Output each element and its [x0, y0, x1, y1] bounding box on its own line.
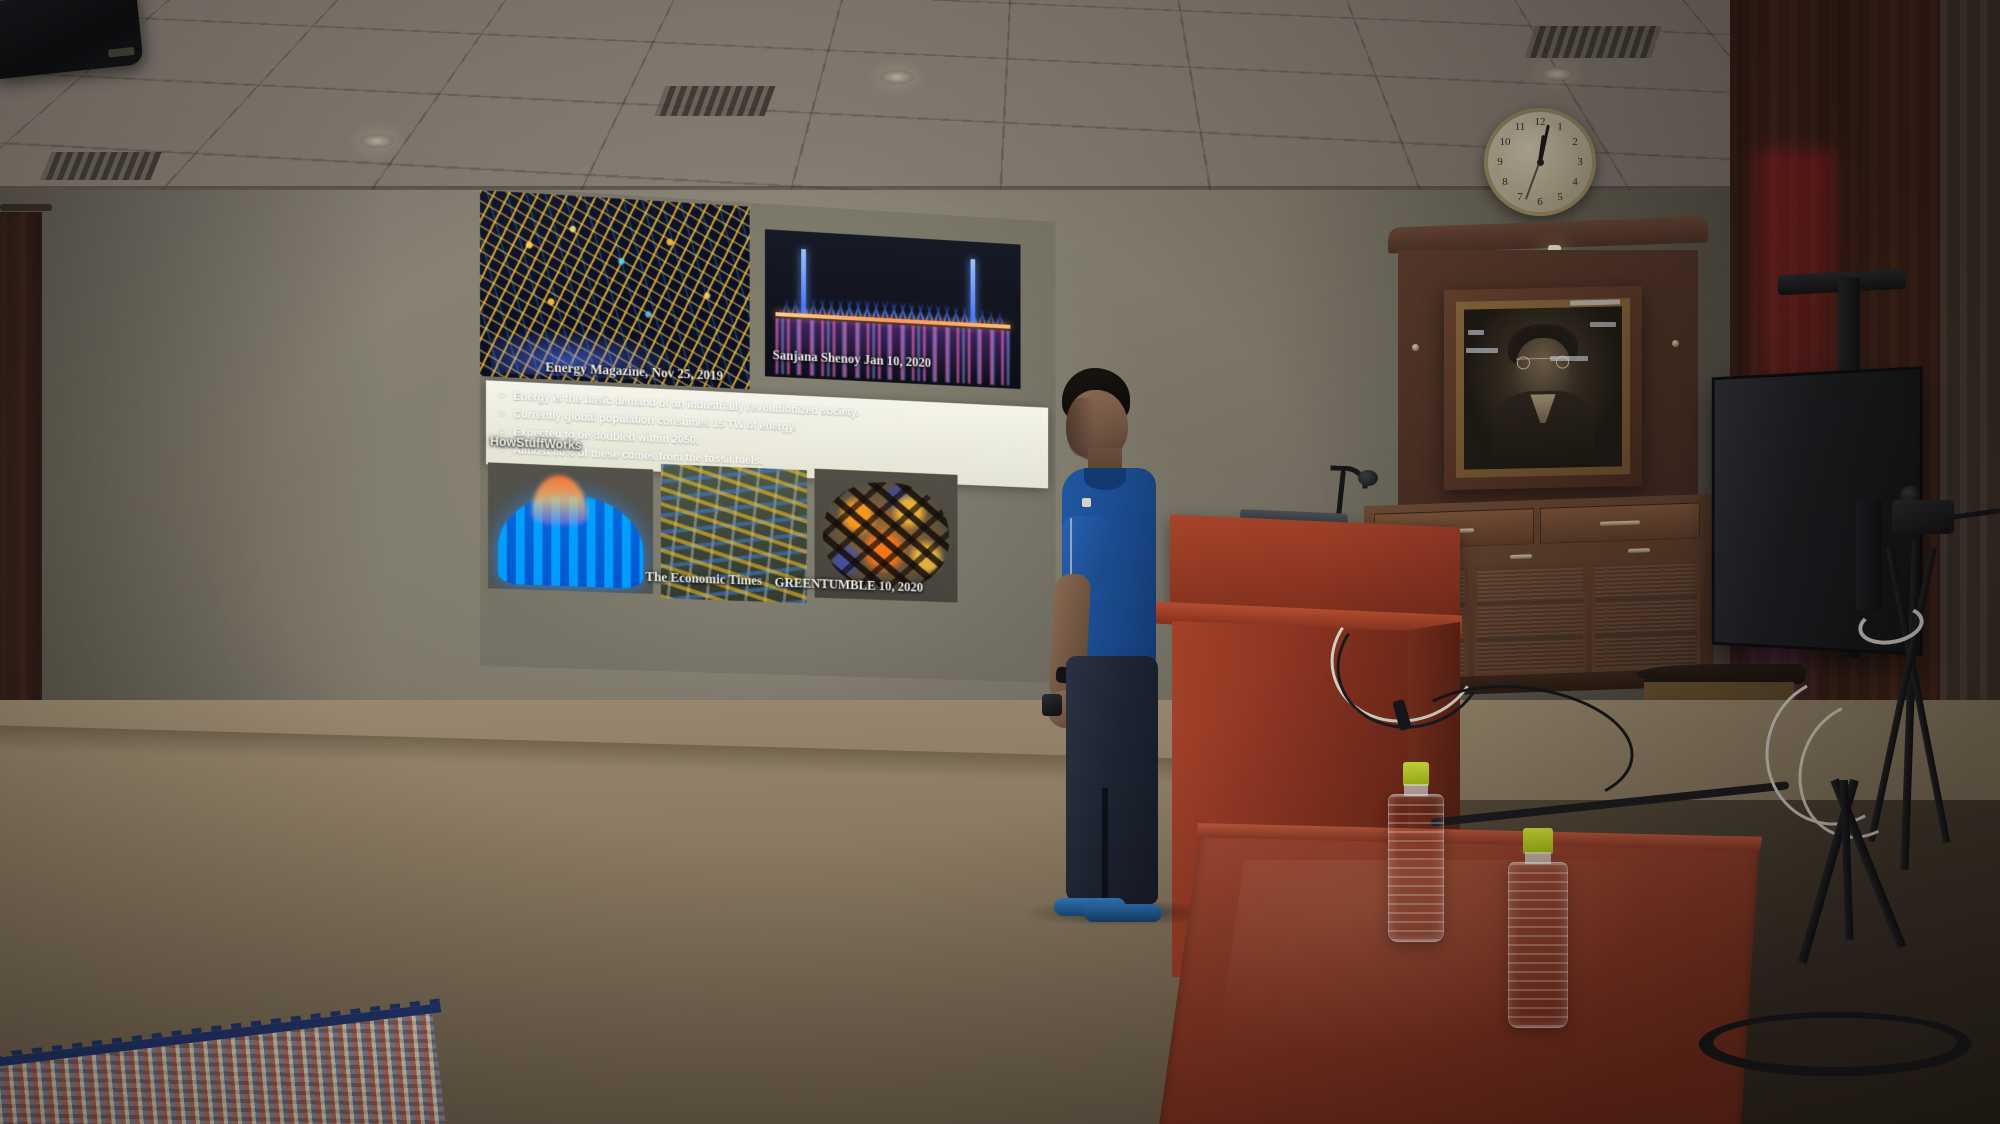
- cabinet-shelf: [1595, 595, 1697, 601]
- cabinet-shelf: [1477, 635, 1583, 641]
- slide-photo-gas-flame: [488, 462, 653, 594]
- curtain-rod: [0, 204, 52, 211]
- slide-photo-city-at-night: [480, 190, 750, 389]
- panel-screw-icon: [1412, 344, 1419, 351]
- portrait-image: [1464, 306, 1622, 469]
- bottle-cap-icon: [1523, 828, 1553, 854]
- framed-portrait: [1444, 286, 1642, 490]
- glass-reflection: [1550, 356, 1588, 361]
- presentation-clicker[interactable]: [1042, 694, 1062, 716]
- wall-clock: 12 1 2 3 4 5 6 7 8 9 10 11: [1484, 108, 1596, 216]
- projected-slide: Energy Magazine, Nov 25, 2019 Sanjana Sh…: [480, 186, 1056, 683]
- presenter-sandal: [1084, 904, 1162, 922]
- lapel-microphone-icon: [1082, 498, 1091, 507]
- water-bottle[interactable]: [1508, 828, 1568, 1028]
- presenter-leg-separation: [1102, 788, 1108, 904]
- flame-orange-tip: [531, 474, 587, 526]
- downlight-icon: [1540, 67, 1574, 81]
- ceiling-tile-grid: [0, 0, 2000, 211]
- bottle-body: [1508, 862, 1568, 1028]
- ceiling-vent-icon: [40, 152, 161, 180]
- bottle-body: [1388, 794, 1444, 942]
- presenter: [1040, 368, 1170, 948]
- water-bottle[interactable]: [1388, 762, 1444, 942]
- cabinet-glass-door[interactable]: [1474, 562, 1586, 676]
- glass-reflection: [1468, 330, 1484, 335]
- downlight-icon: [880, 70, 914, 84]
- cabinet-shelf: [1477, 599, 1583, 605]
- presentation-room-scene: 12 1 2 3 4 5 6 7 8 9 10 11: [0, 0, 2000, 1124]
- clock-center-pin: [1537, 159, 1544, 166]
- cabinet-glass-door[interactable]: [1592, 558, 1700, 672]
- ceiling-vent-icon: [655, 86, 776, 116]
- display-mount-bracket: [1856, 500, 1882, 610]
- bridge-tower: [801, 249, 806, 317]
- presenter-collar: [1084, 468, 1126, 490]
- downlight-icon: [360, 134, 394, 148]
- cabinet-shelf: [1595, 631, 1697, 637]
- bullet-chevron-icon: ➢: [498, 392, 506, 402]
- bridge-tower: [970, 259, 975, 326]
- ceiling-vent-icon: [1525, 26, 1661, 58]
- panel-screw-icon: [1672, 340, 1679, 347]
- glass-reflection: [1466, 348, 1498, 353]
- cabinet-door-handle-icon[interactable]: [1628, 548, 1650, 553]
- second-tripod: [1700, 780, 1980, 980]
- cabinet-door-handle-icon[interactable]: [1510, 554, 1532, 559]
- curtain-left: [0, 212, 42, 772]
- ceiling: [0, 0, 2000, 200]
- bottle-cap-icon: [1403, 762, 1429, 786]
- presenter-trousers: [1066, 656, 1158, 904]
- bullet-chevron-icon: ➢: [498, 410, 506, 420]
- microphone-icon[interactable]: [1358, 470, 1378, 486]
- clock-second-hand: [1526, 162, 1541, 200]
- glass-reflection: [1590, 322, 1616, 327]
